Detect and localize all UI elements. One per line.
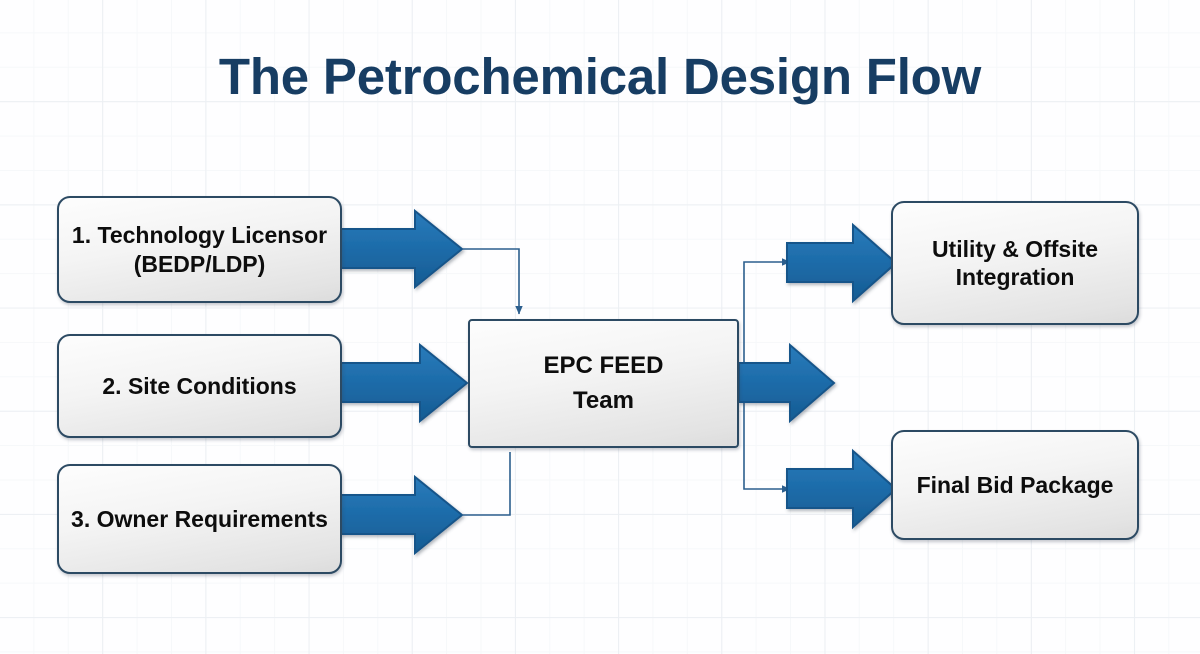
block-arrow-licensor	[341, 211, 462, 287]
node-utility-offsite-line-1: Utility & Offsite	[932, 235, 1098, 263]
node-epc-feed-team[interactable]: EPC FEED Team	[468, 319, 739, 448]
block-arrow-feed-output	[739, 345, 834, 421]
block-arrow-site-conditions	[341, 345, 467, 421]
node-owner-requirements-line-1: 3. Owner Requirements	[71, 505, 328, 533]
elbow-licensor-to-feed	[462, 249, 519, 314]
node-technology-licensor[interactable]: 1. Technology Licensor (BEDP/LDP)	[57, 196, 342, 303]
node-technology-licensor-line-2: (BEDP/LDP)	[72, 250, 327, 278]
elbow-feed-to-bid	[738, 383, 790, 489]
block-arrow-owner-requirements	[341, 477, 462, 553]
node-final-bid-package-line-1: Final Bid Package	[917, 471, 1114, 499]
block-arrow-final-bid	[787, 451, 896, 527]
node-site-conditions-line-1: 2. Site Conditions	[102, 372, 296, 400]
elbow-owner-to-feed	[462, 452, 510, 515]
node-epc-feed-team-line-1: EPC FEED	[543, 349, 663, 384]
node-utility-offsite-line-2: Integration	[932, 263, 1098, 291]
node-final-bid-package[interactable]: Final Bid Package	[891, 430, 1139, 540]
node-epc-feed-team-line-2: Team	[543, 384, 663, 419]
node-utility-offsite-integration[interactable]: Utility & Offsite Integration	[891, 201, 1139, 325]
node-owner-requirements[interactable]: 3. Owner Requirements	[57, 464, 342, 574]
slide-canvas: The Petrochemical Design Flow	[0, 0, 1200, 654]
node-site-conditions[interactable]: 2. Site Conditions	[57, 334, 342, 438]
page-title: The Petrochemical Design Flow	[0, 47, 1200, 106]
node-technology-licensor-line-1: 1. Technology Licensor	[72, 221, 327, 249]
block-arrow-utility-offsite	[787, 225, 896, 301]
elbow-feed-to-utility	[738, 262, 790, 383]
